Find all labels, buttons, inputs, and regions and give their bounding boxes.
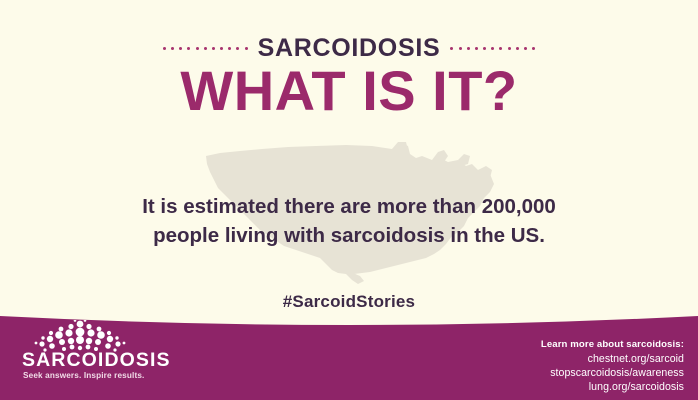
infographic-canvas: SARCOIDOSIS WHAT IS IT? It is estimated … — [0, 0, 698, 400]
eyebrow-row: SARCOIDOSIS — [0, 35, 698, 61]
dotted-rule-left-icon — [163, 43, 248, 53]
page-title: WHAT IS IT? — [0, 62, 698, 121]
body-copy-line-1: It is estimated there are more than 200,… — [0, 192, 698, 221]
eyebrow-title: SARCOIDOSIS — [258, 36, 441, 61]
learn-more-link-lung[interactable]: lung.org/sarcoidosis — [541, 380, 684, 394]
logo-wordmark: SARCOIDOSIS — [22, 351, 158, 371]
learn-more-link-chestnet[interactable]: chestnet.org/sarcoid — [541, 352, 684, 366]
dotted-rule-right-icon — [450, 43, 535, 53]
body-copy: It is estimated there are more than 200,… — [0, 192, 698, 250]
hashtag: #SarcoidStories — [0, 292, 698, 312]
learn-more-link-stopsarcoidosis[interactable]: stopscarcoidosis/awareness — [541, 366, 684, 380]
sarcoidosis-logo: SARCOIDOSIS Seek answers. Inspire result… — [22, 320, 158, 394]
body-copy-line-2: people living with sarcoidosis in the US… — [0, 221, 698, 250]
learn-more-block: Learn more about sarcoidosis: chestnet.o… — [541, 338, 684, 394]
dot-cluster-icon — [28, 320, 132, 352]
learn-more-heading: Learn more about sarcoidosis: — [541, 338, 684, 352]
footer-bar: SARCOIDOSIS Seek answers. Inspire result… — [0, 312, 698, 400]
logo-tagline: Seek answers. Inspire results. — [23, 372, 173, 380]
